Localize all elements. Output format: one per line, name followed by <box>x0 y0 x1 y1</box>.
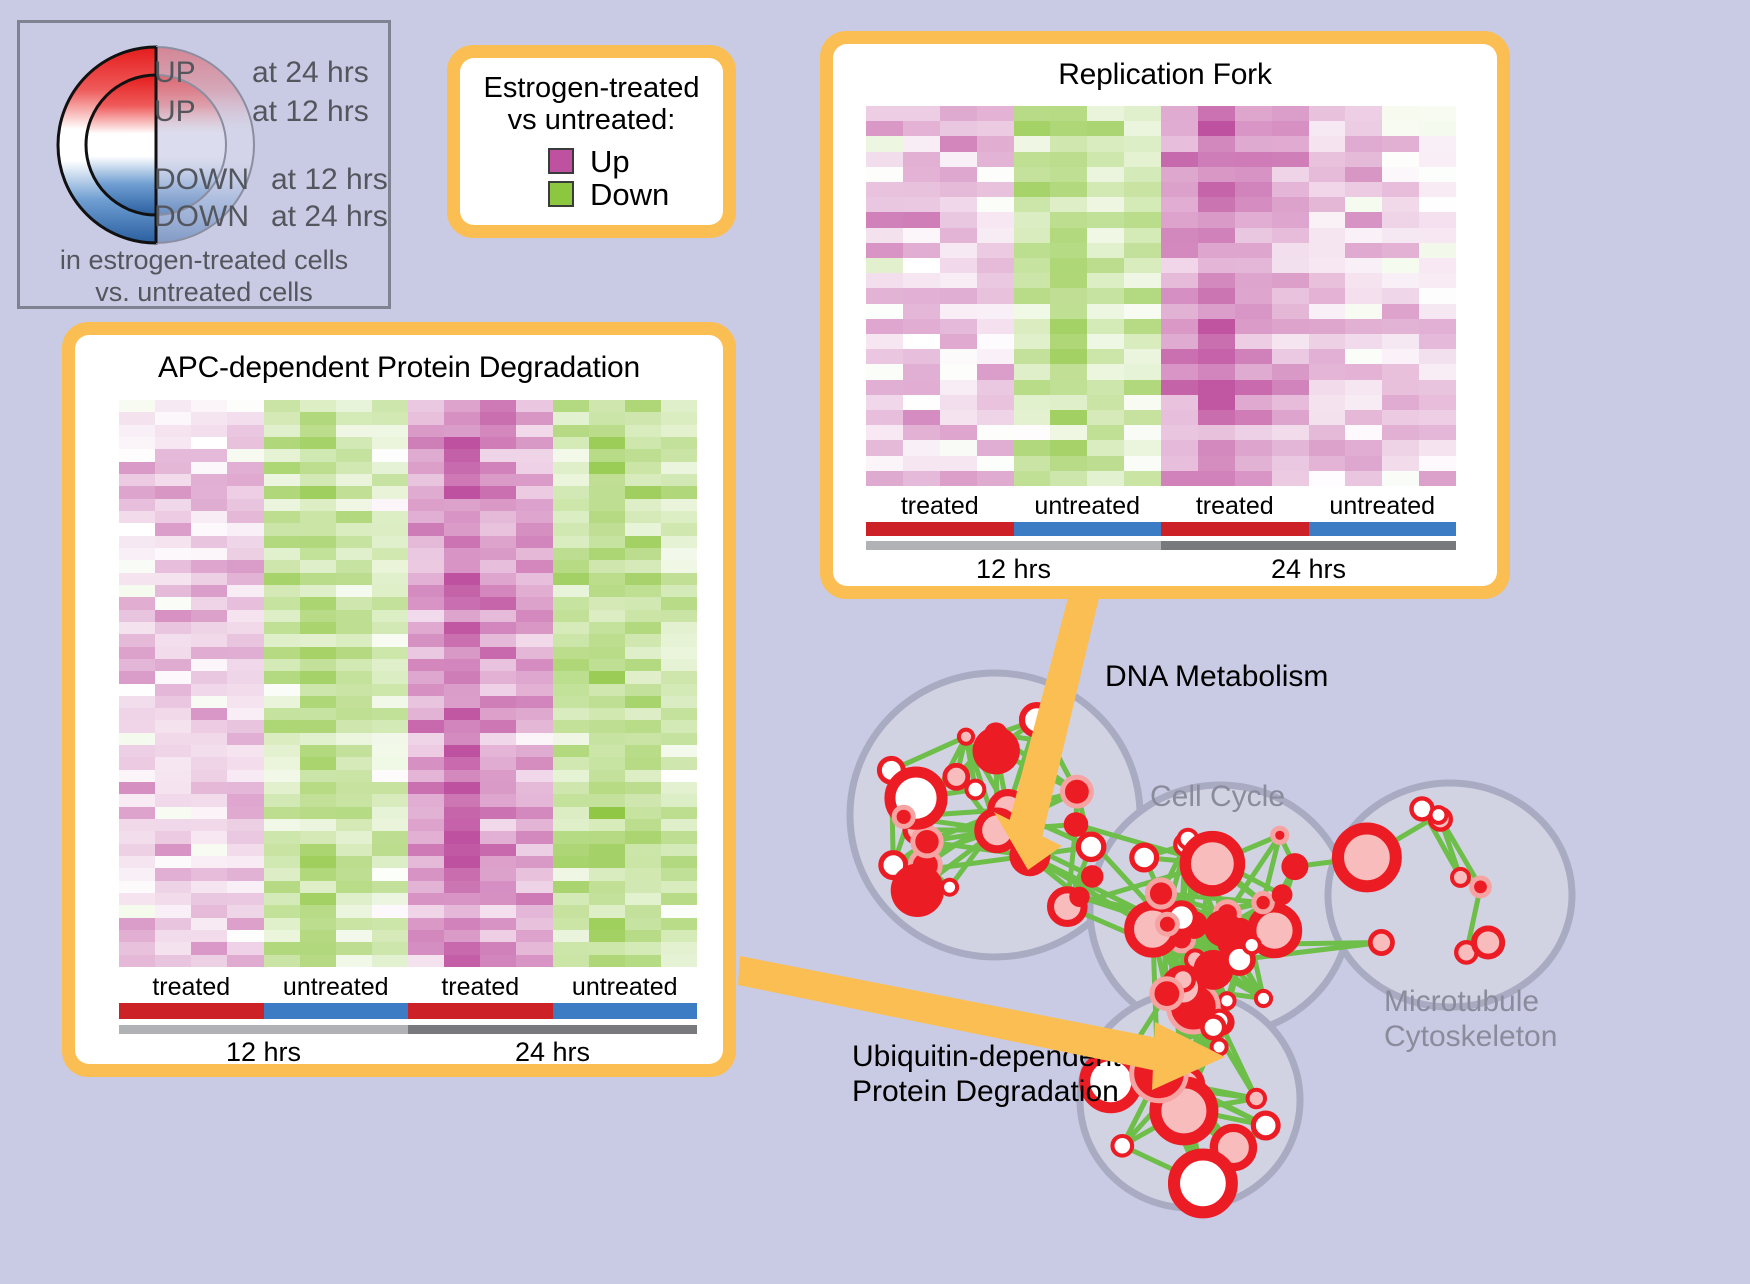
network-node[interactable] <box>1078 834 1103 859</box>
heatmap-cell <box>408 536 444 548</box>
heatmap-cell <box>191 856 227 868</box>
heatmap-cell <box>589 425 625 437</box>
heatmap-cell <box>444 437 480 449</box>
heatmap-cell <box>516 942 552 954</box>
heatmap-cell <box>264 942 300 954</box>
heatmap-cell <box>1124 349 1161 364</box>
heatmap-cell <box>1382 197 1419 212</box>
heatmap-cell <box>191 918 227 930</box>
heatmap-cell <box>1087 258 1124 273</box>
heatmap-cell <box>1419 456 1456 471</box>
heatmap-cell <box>1345 334 1382 349</box>
heatmap-cell <box>480 548 516 560</box>
network-node[interactable] <box>1253 1113 1278 1138</box>
heatmap-cell <box>155 560 191 572</box>
heatmap-cell <box>300 831 336 843</box>
network-svg <box>790 610 1750 1279</box>
heatmap-cell <box>119 610 155 622</box>
heatmap-cell <box>191 955 227 967</box>
heatmap-cell <box>191 708 227 720</box>
heatmap-cell <box>940 380 977 395</box>
network-node[interactable] <box>1273 828 1287 842</box>
group-label-untreated: untreated <box>553 973 698 1003</box>
heatmap-cell <box>1124 440 1161 455</box>
network-node[interactable] <box>942 880 957 895</box>
heatmap-cell <box>903 380 940 395</box>
heatmap-cell <box>264 733 300 745</box>
heatmap-cell <box>300 610 336 622</box>
heatmap-cell <box>372 437 408 449</box>
network-node[interactable] <box>1248 1090 1265 1107</box>
heatmap-cell <box>191 844 227 856</box>
heatmap-cell <box>444 462 480 474</box>
heatmap-cell <box>264 708 300 720</box>
heatmap-cell <box>372 474 408 486</box>
heatmap-cell <box>444 794 480 806</box>
network-node[interactable] <box>1474 928 1502 956</box>
heatmap-cell <box>1124 106 1161 121</box>
heatmap-cell <box>372 794 408 806</box>
heatmap-cell <box>227 462 263 474</box>
heatmap-cell <box>336 400 372 412</box>
heatmap-cell <box>516 893 552 905</box>
heatmap-cell <box>336 573 372 585</box>
heatmap-cell <box>977 304 1014 319</box>
network-node[interactable] <box>1147 880 1174 907</box>
heatmap-cell <box>444 548 480 560</box>
heatmap-cell <box>480 597 516 609</box>
heatmap-cell <box>408 844 444 856</box>
heatmap-cell <box>516 462 552 474</box>
heatmap-cell <box>480 757 516 769</box>
heatmap-cell <box>1014 334 1051 349</box>
heatmap-cell <box>1161 456 1198 471</box>
heatmap-cell <box>336 412 372 424</box>
heatmap-cell <box>1161 410 1198 425</box>
network-node[interactable] <box>1338 829 1396 887</box>
heatmap-cell <box>300 807 336 819</box>
heatmap-cell <box>372 819 408 831</box>
heatmap-cell <box>1272 228 1309 243</box>
heatmap-cell <box>1309 364 1346 379</box>
heatmap-cell <box>1198 167 1235 182</box>
heatmap-cell <box>516 671 552 683</box>
heatmap-cell <box>1272 380 1309 395</box>
heatmap-cell <box>1014 440 1051 455</box>
heatmap-cell <box>1235 410 1272 425</box>
heatmap-cell <box>444 782 480 794</box>
network-node[interactable] <box>1081 865 1104 888</box>
heatmap-cell <box>977 152 1014 167</box>
heatmap-cell <box>444 425 480 437</box>
network-node[interactable] <box>1185 837 1239 891</box>
heatmap-cell <box>1050 319 1087 334</box>
heatmap-cell <box>866 364 903 379</box>
heatmap-cell <box>977 167 1014 182</box>
heatmap-cell <box>444 499 480 511</box>
heatmap-cell <box>1014 395 1051 410</box>
heatmap-cell <box>1161 228 1198 243</box>
heatmap-cell <box>119 659 155 671</box>
heatmap-cell <box>1198 440 1235 455</box>
heatmap-cell <box>589 412 625 424</box>
network-node[interactable] <box>894 807 913 826</box>
heatmap-cell <box>516 831 552 843</box>
heatmap-cell <box>1014 197 1051 212</box>
heatmap-cell <box>903 243 940 258</box>
heatmap-cell <box>155 462 191 474</box>
heatmap-cell <box>336 486 372 498</box>
heatmap-cell <box>625 831 661 843</box>
heatmap-cell <box>1161 152 1198 167</box>
heatmap-cell <box>1050 395 1087 410</box>
heatmap-cell <box>336 856 372 868</box>
heatmap-cell <box>372 844 408 856</box>
heatmap-cell <box>1235 258 1272 273</box>
heatmap-cell <box>191 659 227 671</box>
heatmap-cell <box>1235 197 1272 212</box>
heatmap-cell <box>1309 121 1346 136</box>
heatmap-cell <box>191 720 227 732</box>
cluster-label-ubiquitin-line2: Protein Degradation <box>852 1075 1121 1110</box>
heatmap-cell <box>1235 243 1272 258</box>
heatmap-cell <box>1014 228 1051 243</box>
heatmap-cell <box>372 462 408 474</box>
heatmap-cell <box>589 868 625 880</box>
heatmap-cell <box>1345 395 1382 410</box>
network-node[interactable] <box>1254 893 1272 911</box>
heatmap-cell <box>977 334 1014 349</box>
heatmap-cell <box>1087 425 1124 440</box>
heatmap-cell <box>625 696 661 708</box>
time-label-24-hrs: 24 hrs <box>408 1037 697 1064</box>
heatmap-cell <box>1272 425 1309 440</box>
heatmap-cell <box>589 745 625 757</box>
heatmap-cell <box>1087 152 1124 167</box>
heatmap-cell <box>1050 182 1087 197</box>
heatmap-cell <box>1382 456 1419 471</box>
heatmap-cell <box>866 425 903 440</box>
heatmap-cell <box>480 634 516 646</box>
network-node[interactable] <box>959 730 973 744</box>
heatmap-cell <box>191 449 227 461</box>
network-node[interactable] <box>967 781 985 799</box>
apc-degradation-inner: APC-dependent Protein Degradation treate… <box>75 335 723 1064</box>
heatmap-cell <box>227 684 263 696</box>
heatmap-cell <box>336 647 372 659</box>
heatmap-cell <box>1345 167 1382 182</box>
heatmap-cell <box>264 671 300 683</box>
heatmap-cell <box>903 182 940 197</box>
heatmap-cell <box>1198 273 1235 288</box>
heatmap-cell <box>227 807 263 819</box>
heatmap-cell <box>264 585 300 597</box>
heatmap-cell <box>372 486 408 498</box>
heatmap-cell <box>1198 471 1235 486</box>
heatmap-cell <box>444 856 480 868</box>
heatmap-cell <box>903 197 940 212</box>
heatmap-cell <box>553 548 589 560</box>
network-node[interactable] <box>1452 869 1469 886</box>
heatmap-cell <box>1050 273 1087 288</box>
heatmap-cell <box>1014 152 1051 167</box>
heatmap-cell <box>191 560 227 572</box>
network-node[interactable] <box>1063 777 1092 806</box>
network-node[interactable] <box>1069 887 1089 907</box>
heatmap-cell <box>444 881 480 893</box>
heatmap-cell <box>191 412 227 424</box>
heatmap-cell <box>1345 364 1382 379</box>
heatmap-cell <box>625 918 661 930</box>
heatmap-cell <box>264 449 300 461</box>
key-time-down-12: at 12 hrs <box>271 163 388 197</box>
heatmap-cell <box>480 942 516 954</box>
heatmap-cell <box>227 930 263 942</box>
heatmap-cell <box>119 745 155 757</box>
heatmap-cell <box>336 437 372 449</box>
heatmap-cell <box>625 770 661 782</box>
heatmap-cell <box>1161 258 1198 273</box>
heatmap-cell <box>119 819 155 831</box>
heatmap-cell <box>336 905 372 917</box>
heatmap-cell <box>553 511 589 523</box>
heatmap-cell <box>1382 288 1419 303</box>
heatmap-cell <box>119 684 155 696</box>
heatmap-cell <box>1161 364 1198 379</box>
heatmap-cell <box>119 807 155 819</box>
heatmap-cell <box>480 696 516 708</box>
key-time-down-24: at 24 hrs <box>271 200 388 234</box>
heatmap-cell <box>866 395 903 410</box>
heatmap-cell <box>1419 182 1456 197</box>
network-node[interactable] <box>1281 853 1308 880</box>
network-node[interactable] <box>1064 812 1089 837</box>
network-node[interactable] <box>1256 991 1271 1006</box>
heatmap-cell <box>119 856 155 868</box>
heatmap-cell <box>372 548 408 560</box>
heatmap-cell <box>516 511 552 523</box>
heatmap-cell <box>155 757 191 769</box>
heatmap-cell <box>661 955 697 967</box>
cluster-label-dna-metabolism: DNA Metabolism <box>1105 660 1328 695</box>
heatmap-cell <box>1087 456 1124 471</box>
network-node[interactable] <box>1212 1040 1227 1055</box>
heatmap-cell <box>191 536 227 548</box>
heatmap-cell <box>625 684 661 696</box>
network-node[interactable] <box>1219 993 1234 1008</box>
heatmap-cell <box>1087 349 1124 364</box>
network-node[interactable] <box>1022 705 1052 735</box>
heatmap-cell <box>903 319 940 334</box>
heatmap-cell <box>977 197 1014 212</box>
network-node[interactable] <box>1132 845 1157 870</box>
heatmap-cell <box>408 560 444 572</box>
heatmap-cell <box>227 585 263 597</box>
heatmap-cell <box>264 659 300 671</box>
heatmap-cell <box>191 610 227 622</box>
heatmap-cell <box>227 782 263 794</box>
heatmap-cell <box>1419 197 1456 212</box>
group-color-bar <box>1309 522 1457 536</box>
heatmap-cell <box>1161 395 1198 410</box>
heatmap-cell <box>444 696 480 708</box>
heatmap-cell <box>264 844 300 856</box>
heatmap-cell <box>1272 152 1309 167</box>
heatmap-cell <box>516 708 552 720</box>
network-node[interactable] <box>1043 734 1059 750</box>
heatmap-cell <box>372 893 408 905</box>
heatmap-cell <box>553 585 589 597</box>
group-label-treated: treated <box>1161 492 1309 522</box>
heatmap-cell <box>1124 197 1161 212</box>
heatmap-cell <box>300 634 336 646</box>
heatmap-cell <box>480 523 516 535</box>
heatmap-cell <box>372 955 408 967</box>
heatmap-cell <box>977 456 1014 471</box>
network-node[interactable] <box>1113 1136 1133 1156</box>
heatmap-cell <box>1382 152 1419 167</box>
heatmap-cell <box>553 708 589 720</box>
heatmap-cell <box>516 807 552 819</box>
heatmap-cell <box>227 634 263 646</box>
heatmap-cell <box>625 942 661 954</box>
group-color-bar <box>553 1003 698 1019</box>
heatmap-cell <box>1345 471 1382 486</box>
heatmap-cell <box>1050 456 1087 471</box>
heatmap-cell <box>977 228 1014 243</box>
network-node[interactable] <box>891 864 944 917</box>
heatmap-cell <box>408 893 444 905</box>
heatmap-cell <box>1419 167 1456 182</box>
heatmap-cell <box>119 671 155 683</box>
network-node[interactable] <box>1174 1155 1232 1213</box>
heatmap-cell <box>191 474 227 486</box>
heatmap-cell <box>625 868 661 880</box>
heatmap-cell <box>1382 304 1419 319</box>
network-node[interactable] <box>1472 878 1490 896</box>
heatmap-cell <box>336 844 372 856</box>
heatmap-cell <box>589 955 625 967</box>
network-node[interactable] <box>1370 931 1392 953</box>
heatmap-cell <box>1014 425 1051 440</box>
heatmap-cell <box>1419 395 1456 410</box>
heatmap-cell <box>589 708 625 720</box>
heatmap-cell <box>625 807 661 819</box>
heatmap-cell <box>661 696 697 708</box>
heatmap-cell <box>1050 425 1087 440</box>
heatmap-cell <box>1050 349 1087 364</box>
heatmap-cell <box>227 696 263 708</box>
heatmap-cell <box>903 364 940 379</box>
heatmap-cell <box>155 696 191 708</box>
heatmap-cell <box>625 856 661 868</box>
heatmap-cell <box>661 671 697 683</box>
heatmap-cell <box>589 659 625 671</box>
heatmap-cell <box>553 942 589 954</box>
heatmap-cell <box>300 622 336 634</box>
network-node[interactable] <box>978 811 1016 849</box>
heatmap-cell <box>1309 136 1346 151</box>
network-node[interactable] <box>913 828 941 856</box>
heatmap-cell <box>553 684 589 696</box>
heatmap-cell <box>1087 243 1124 258</box>
heatmap-cell <box>1345 440 1382 455</box>
network-node[interactable] <box>1132 1046 1187 1101</box>
heatmap-cell <box>1161 182 1198 197</box>
heatmap-cell <box>553 597 589 609</box>
heatmap-cell <box>661 757 697 769</box>
network-node[interactable] <box>1152 979 1182 1009</box>
heatmap-cell <box>1235 273 1272 288</box>
heatmap-cell <box>1309 152 1346 167</box>
heatmap-cell <box>155 831 191 843</box>
time-color-bar <box>119 1025 408 1034</box>
heatmap-cell <box>372 560 408 572</box>
heatmap-cell <box>155 523 191 535</box>
heatmap-cell <box>191 425 227 437</box>
heatmap-cell <box>372 400 408 412</box>
heatmap-cell <box>553 647 589 659</box>
heatmap-cell <box>227 449 263 461</box>
heatmap-cell <box>1309 106 1346 121</box>
network-node[interactable] <box>1157 914 1177 934</box>
network-node[interactable] <box>1202 1016 1224 1038</box>
heatmap-cell <box>1235 456 1272 471</box>
heatmap-cell <box>1014 410 1051 425</box>
heatmap-cell <box>940 410 977 425</box>
network-node[interactable] <box>1272 884 1293 905</box>
heatmap-cell <box>553 523 589 535</box>
heatmap-cell <box>1309 182 1346 197</box>
heatmap-cell <box>553 745 589 757</box>
heatmap-cell <box>1309 197 1346 212</box>
heatmap-cell <box>1161 319 1198 334</box>
heatmap-cell <box>444 647 480 659</box>
heatmap-cell <box>903 258 940 273</box>
heatmap-cell <box>480 955 516 967</box>
heatmap-cell <box>1087 410 1124 425</box>
heatmap-cell <box>227 573 263 585</box>
heatmap-cell <box>1124 304 1161 319</box>
heatmap-cell <box>516 634 552 646</box>
network-node[interactable] <box>1244 937 1260 953</box>
heatmap-cell <box>119 647 155 659</box>
heatmap-cell <box>1198 136 1235 151</box>
heatmap-cell <box>227 955 263 967</box>
heatmap-cell <box>1419 273 1456 288</box>
heatmap-cell <box>661 474 697 486</box>
heatmap-cell <box>661 844 697 856</box>
heatmap-cell <box>589 930 625 942</box>
network-node[interactable] <box>1431 807 1447 823</box>
heatmap-cell <box>1419 440 1456 455</box>
heatmap-cell <box>866 212 903 227</box>
heatmap-cell <box>408 462 444 474</box>
heatmap-cell <box>553 425 589 437</box>
heatmap-cell <box>516 437 552 449</box>
heatmap-cell <box>661 523 697 535</box>
network-node[interactable] <box>945 765 968 788</box>
heatmap-cell <box>516 585 552 597</box>
heatmap-cell <box>1050 212 1087 227</box>
heatmap-cell <box>408 400 444 412</box>
heatmap-cell <box>940 334 977 349</box>
heatmap-cell <box>264 770 300 782</box>
heatmap-cell <box>866 319 903 334</box>
heatmap-cell <box>1124 425 1161 440</box>
heatmap-cell <box>516 499 552 511</box>
network-node[interactable] <box>984 722 1008 746</box>
